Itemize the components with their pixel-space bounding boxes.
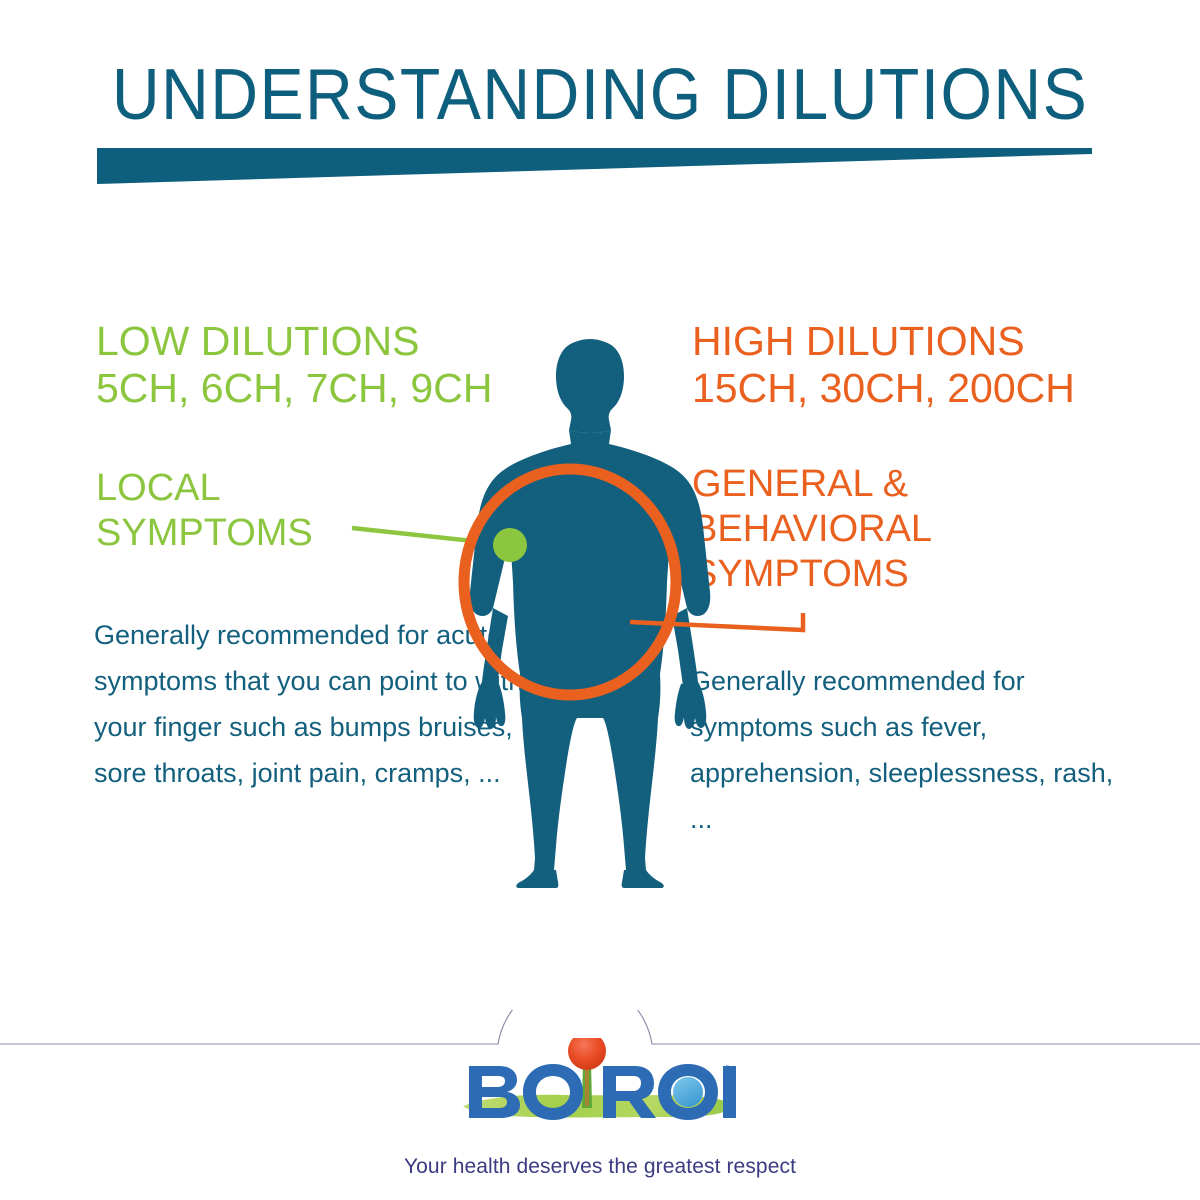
logo-flower-bloom [568, 1038, 606, 1070]
infographic-canvas: UNDERSTANDING DILUTIONS LOW DILUTIONS 5C… [0, 0, 1200, 1200]
logo-stem-highlight [585, 1064, 589, 1106]
local-symptoms-line2: SYMPTOMS [96, 511, 313, 556]
logo-cyan-orb [673, 1077, 703, 1107]
logo-trademark-symbol: ® [723, 1063, 732, 1077]
boiron-logo: ® [455, 1038, 745, 1124]
boiron-logo-art: ® [455, 1038, 745, 1124]
footer: ® Your health deserves the greatest resp… [0, 1010, 1200, 1200]
figure-illustration [330, 330, 890, 890]
green-local-point-marker [493, 528, 527, 562]
page-title: UNDERSTANDING DILUTIONS [48, 56, 1152, 134]
title-banner-wedge [97, 148, 1092, 184]
footer-tagline: Your health deserves the greatest respec… [0, 1155, 1200, 1179]
local-symptoms-subheading: LOCAL SYMPTOMS [96, 466, 313, 556]
local-symptoms-line1: LOCAL [96, 466, 313, 511]
